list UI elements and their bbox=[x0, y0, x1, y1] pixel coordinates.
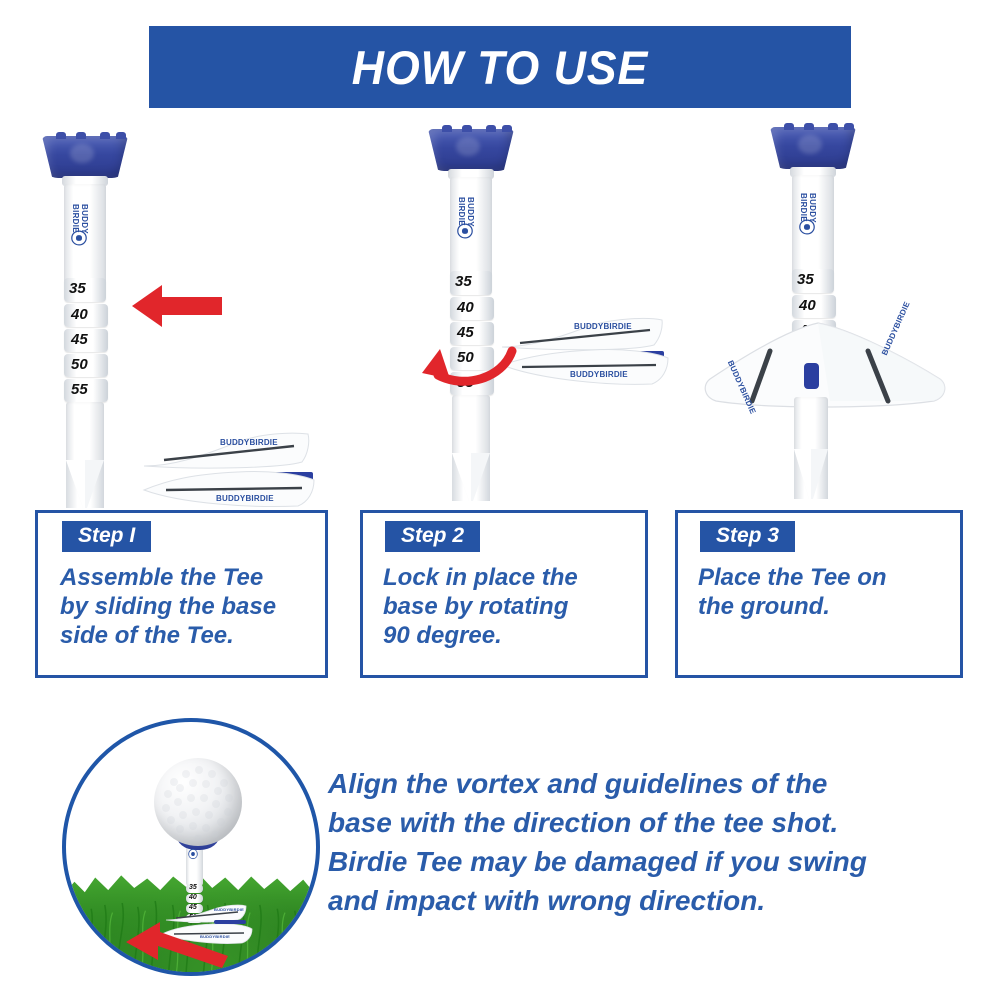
cap-nub-icon bbox=[828, 123, 838, 130]
page-title: HOW TO USE bbox=[352, 40, 648, 95]
birdie-swoosh-icon: ⦿ bbox=[188, 846, 198, 861]
step-text-1: Assemble the Tee by sliding the base sid… bbox=[60, 563, 328, 650]
step-text-2: Lock in place the base by rotating 90 de… bbox=[383, 563, 648, 650]
red-arrow-rotate-icon bbox=[410, 333, 520, 395]
tee-mark-40: 40 bbox=[457, 299, 474, 316]
base-blue-indicator bbox=[804, 363, 819, 389]
birdie-swoosh-icon: ⦿ bbox=[454, 223, 478, 239]
tee-mark-35: 35 bbox=[455, 273, 472, 290]
cap-nub-icon bbox=[442, 125, 452, 132]
shaft-brand-line2: BIRDIE bbox=[71, 204, 79, 233]
ball-dimples-icon bbox=[154, 758, 242, 846]
step-text-3: Place the Tee on the ground. bbox=[698, 563, 963, 621]
base-wing-brand-text: BUDDYBIRDIE bbox=[570, 370, 628, 379]
tee-mark-55: 55 bbox=[71, 381, 88, 398]
cap-gloss-icon bbox=[456, 137, 480, 156]
shaft-brand-line2: BIRDIE bbox=[457, 197, 465, 226]
tee-mark-45: 45 bbox=[71, 331, 88, 348]
illustration-step-3: BUDDY BIRDIE ⦿ 35 40 45 50 BUDDYBIRDIE B… bbox=[710, 115, 970, 505]
step-box-2: Step 2 Lock in place the base by rotatin… bbox=[360, 510, 648, 678]
cap-nub-icon bbox=[100, 132, 110, 139]
tee-cap-icon bbox=[770, 127, 856, 169]
page-root: HOW TO USE BUDDY BIRDIE ⦿ 35 40 45 50 55 bbox=[0, 0, 1000, 1000]
base-wing-brand-text: BUDDYBIRDIE bbox=[216, 494, 274, 503]
cap-nub-icon bbox=[76, 132, 86, 139]
red-arrow-direction-icon bbox=[124, 910, 234, 970]
header-banner: HOW TO USE bbox=[149, 26, 851, 108]
cap-gloss-icon bbox=[70, 144, 94, 163]
step-box-3: Step 3 Place the Tee on the ground. bbox=[675, 510, 963, 678]
base-wing-lower bbox=[500, 347, 670, 389]
tee-cap-icon bbox=[428, 129, 514, 171]
step-box-1: Step I Assemble the Tee by sliding the b… bbox=[35, 510, 328, 678]
base-wing-lower bbox=[142, 468, 317, 510]
base-wing-brand-text: BUDDYBIRDIE bbox=[574, 322, 632, 331]
tee-mark-35: 35 bbox=[797, 271, 814, 288]
tee-tip-icon bbox=[66, 460, 104, 508]
tee-lower-shaft bbox=[794, 397, 828, 453]
cap-nub-icon bbox=[804, 123, 814, 130]
shaft-brand-line2: BIRDIE bbox=[799, 193, 807, 222]
cap-nub-icon bbox=[784, 123, 794, 130]
tee-tip-icon bbox=[452, 453, 490, 501]
tee-tip-icon bbox=[794, 449, 828, 499]
step-badge-1: Step I bbox=[62, 521, 151, 552]
illustration-step-1: BUDDY BIRDIE ⦿ 35 40 45 50 55 BUDDYBIRDI… bbox=[20, 120, 340, 500]
tee-lower-shaft bbox=[66, 402, 104, 464]
base-wing-brand-text: BUDDYBIRDIE bbox=[220, 438, 278, 447]
tee-lower-shaft bbox=[452, 395, 490, 457]
tee-mark-35: 35 bbox=[69, 280, 86, 297]
cap-nub-icon bbox=[56, 132, 66, 139]
cap-nub-icon bbox=[486, 125, 496, 132]
cap-nub-icon bbox=[462, 125, 472, 132]
tee-mark-35: 35 bbox=[189, 884, 197, 891]
footer-note: Align the vortex and guidelines of the b… bbox=[328, 764, 968, 920]
cap-nub-icon bbox=[844, 123, 854, 130]
tee-mark-40: 40 bbox=[71, 306, 88, 323]
cap-nub-icon bbox=[502, 125, 512, 132]
tee-mark-40: 40 bbox=[799, 297, 816, 314]
birdie-swoosh-icon: ⦿ bbox=[68, 230, 92, 246]
step-badge-2: Step 2 bbox=[385, 521, 480, 552]
cap-gloss-icon bbox=[798, 135, 822, 154]
red-arrow-left-icon bbox=[132, 283, 222, 329]
birdie-swoosh-icon: ⦿ bbox=[796, 219, 820, 235]
tee-cap-icon bbox=[42, 136, 128, 178]
tee-direction-illustration: ⦿ 35 40 45 50 BUDDYBIRDIE BUDDYBIRDIE bbox=[62, 718, 320, 976]
golf-ball-icon bbox=[154, 758, 242, 846]
tee-mark-50: 50 bbox=[71, 356, 88, 373]
step-badge-3: Step 3 bbox=[700, 521, 795, 552]
illustration-step-2: BUDDY BIRDIE ⦿ 35 40 45 50 55 BUDDYBIRDI… bbox=[400, 115, 700, 505]
tee-mark-40: 40 bbox=[189, 894, 197, 901]
cap-nub-icon bbox=[116, 132, 126, 139]
